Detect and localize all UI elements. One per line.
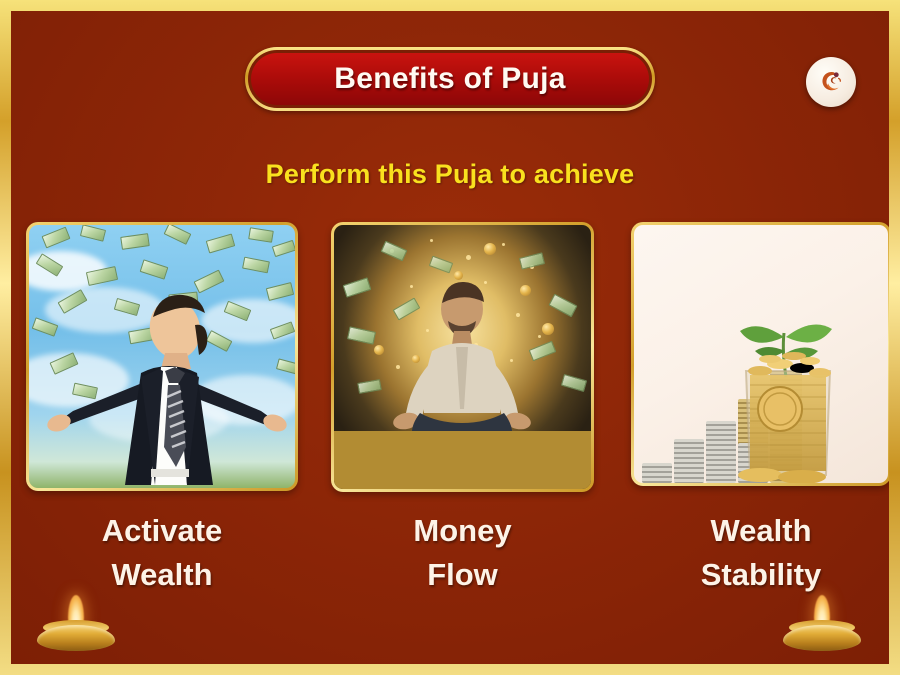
benefit-card-2[interactable] bbox=[331, 222, 594, 492]
benefit-card-3[interactable] bbox=[631, 222, 889, 486]
caption-line-1: Wealth bbox=[631, 509, 889, 553]
poster-background: Benefits of Puja Perform this Puja to ac… bbox=[11, 11, 889, 664]
diya-bowl bbox=[783, 625, 861, 651]
title-banner: Benefits of Puja bbox=[245, 47, 655, 111]
brand-logo[interactable] bbox=[806, 57, 856, 107]
benefit-images-row bbox=[11, 222, 889, 512]
gold-coin-bed bbox=[334, 431, 591, 489]
poster-frame: Benefits of Puja Perform this Puja to ac… bbox=[0, 0, 900, 675]
banner-red-face: Benefits of Puja bbox=[251, 53, 649, 105]
benefit-card-1[interactable] bbox=[26, 222, 298, 491]
caption-line-1: Money bbox=[331, 509, 594, 553]
caption-activate-wealth: Activate Wealth bbox=[26, 509, 298, 597]
diya-lamp-right bbox=[783, 593, 861, 651]
subtitle-text: Perform this Puja to achieve bbox=[11, 159, 889, 190]
diya-bowl bbox=[37, 625, 115, 651]
caption-money-flow: Money Flow bbox=[331, 509, 594, 597]
caption-line-2: Flow bbox=[331, 553, 594, 597]
ganesha-om-icon bbox=[814, 65, 848, 99]
caption-line-2: Stability bbox=[631, 553, 889, 597]
coin-jar-with-plant bbox=[634, 225, 888, 483]
caption-line-1: Activate bbox=[26, 509, 298, 553]
businessman-figure bbox=[29, 225, 295, 488]
caption-line-2: Wealth bbox=[26, 553, 298, 597]
page-title: Benefits of Puja bbox=[334, 62, 566, 96]
image-activate-wealth bbox=[29, 225, 295, 488]
benefit-captions-row: Activate Wealth Money Flow Wealth Stabil… bbox=[11, 509, 889, 599]
image-money-flow bbox=[334, 225, 591, 489]
image-wealth-stability bbox=[634, 225, 888, 483]
diya-lamp-left bbox=[37, 593, 115, 651]
caption-wealth-stability: Wealth Stability bbox=[631, 509, 889, 597]
